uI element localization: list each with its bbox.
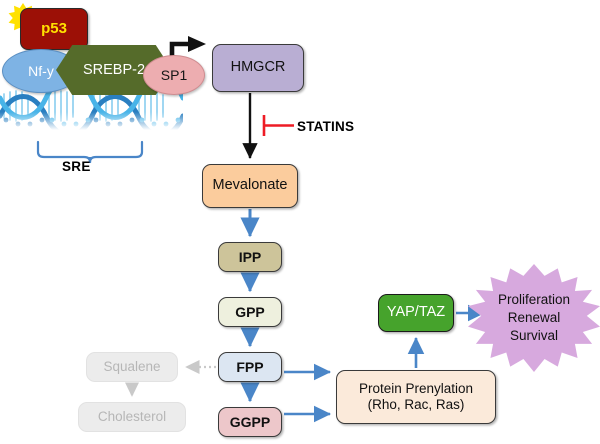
cholesterol-node[interactable]: Cholesterol <box>78 402 186 432</box>
squalene-node[interactable]: Squalene <box>86 352 178 382</box>
sre-label: SRE <box>62 159 91 174</box>
yap-taz-node[interactable]: YAP/TAZ <box>378 294 454 332</box>
outcome-starburst: Proliferation Renewal Survival <box>468 264 600 372</box>
outcome-label: Proliferation Renewal Survival <box>498 291 570 344</box>
protein-prenylation-node[interactable]: Protein Prenylation (Rho, Rac, Ras) <box>336 370 496 424</box>
gpp-node[interactable]: GPP <box>218 297 282 327</box>
ipp-node[interactable]: IPP <box>218 242 282 272</box>
inhibition-t-bar-icon <box>264 115 294 136</box>
fpp-node[interactable]: FPP <box>218 352 282 382</box>
mevalonate-node[interactable]: Mevalonate <box>202 164 298 208</box>
sp1-node[interactable]: SP1 <box>143 55 205 95</box>
hmgcr-node[interactable]: HMGCR <box>212 44 304 92</box>
p53-node[interactable]: p53 <box>20 8 88 50</box>
ggpp-node[interactable]: GGPP <box>218 407 282 437</box>
statins-label: STATINS <box>297 119 354 134</box>
pathway-diagram-canvas: p53 Nf-y SREBP-2 SP1 SRE HMGCR STATINS M… <box>0 0 600 444</box>
